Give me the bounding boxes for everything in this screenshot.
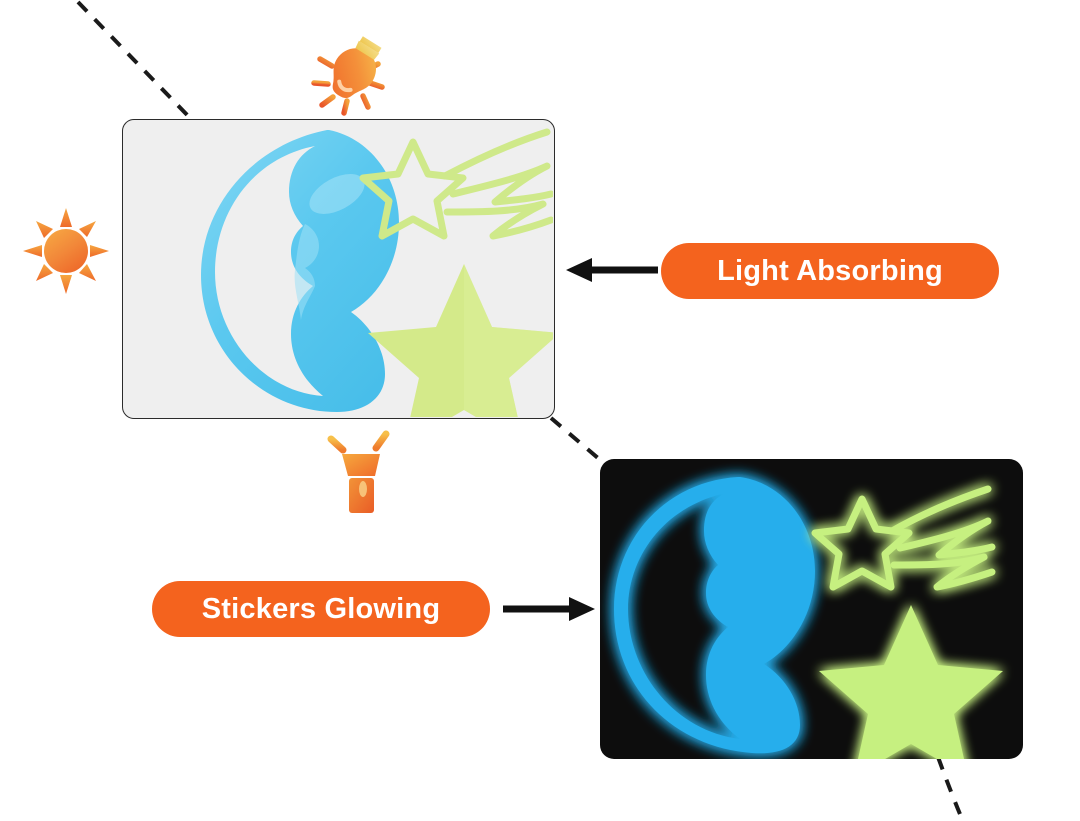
lightbulb-icon [306, 31, 396, 117]
solid-star-sticker [368, 264, 553, 417]
crescent-moon-sticker [201, 130, 399, 412]
flashlight-icon [318, 421, 404, 515]
dashed-line-bottom-right [938, 757, 962, 819]
label-light-absorbing-text: Light Absorbing [717, 255, 943, 288]
sun-icon [22, 207, 110, 295]
crescent-moon-sticker-glowing [600, 459, 1023, 759]
arrow-right-to-dark-panel [503, 594, 595, 624]
label-stickers-glowing-text: Stickers Glowing [202, 593, 441, 626]
infographic-canvas: Light Absorbing Stickers Glowing [0, 0, 1080, 821]
label-stickers-glowing[interactable]: Stickers Glowing [152, 581, 490, 637]
arrow-left-to-light-panel [566, 255, 658, 285]
label-light-absorbing[interactable]: Light Absorbing [661, 243, 999, 299]
stickers-glowing-panel [600, 459, 1023, 759]
dashed-line-top-left [78, 2, 192, 120]
dashed-line-between-panels [551, 418, 612, 470]
light-absorbing-panel [122, 119, 555, 419]
